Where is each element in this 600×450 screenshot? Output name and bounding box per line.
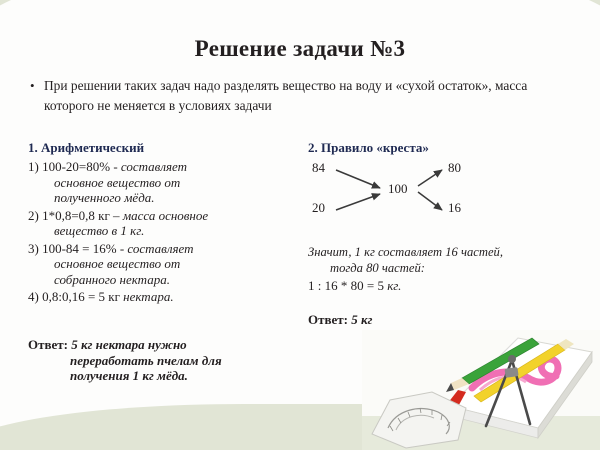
cross-value-bottom-right: 16	[448, 200, 461, 216]
right-answer-value: 5 кг	[351, 312, 372, 327]
left-section-heading: 1. Арифметический	[28, 140, 298, 156]
arrow-20-to-center	[336, 194, 380, 210]
bullet-dot-icon: •	[30, 76, 44, 96]
step-1-lead: 1) 100-20=80% -	[28, 159, 121, 174]
left-answer-cont-2: получения 1 кг мёда.	[28, 368, 298, 384]
step-2-lead-italic: масса основное	[123, 208, 208, 223]
cross-rule-method-column: 2. Правило «креста» 84 20 100 8	[308, 140, 573, 159]
cross-value-bottom-left: 20	[312, 200, 325, 216]
list-item: 1) 100-20=80% - составляет основное веще…	[28, 159, 298, 206]
list-item: 4) 0,8:0,16 = 5 кг нектара.	[28, 289, 298, 305]
compass-clamp	[505, 367, 519, 378]
right-equation: 1 : 16 * 80 = 5 кг.	[308, 278, 566, 294]
conclusion-line-1: Значит, 1 кг составляет 16 частей,	[308, 245, 503, 259]
left-answer-label: Ответ:	[28, 337, 68, 352]
left-answer-block: Ответ: 5 кг нектара нужно переработать п…	[28, 337, 298, 384]
intro-bullet-text: При решении таких задач надо разделять в…	[44, 76, 556, 116]
page-title: Решение задачи №3	[0, 36, 600, 62]
intro-bullet: • При решении таких задач надо разделять…	[30, 76, 556, 116]
right-conclusion-block: Значит, 1 кг составляет 16 частей, тогда…	[308, 245, 566, 328]
left-answer-cont-1: переработать пчелам для	[28, 353, 298, 369]
step-4-lead: 4) 0,8:0,16 = 5 кг	[28, 289, 123, 304]
conclusion-line-2: тогда 80 частей:	[308, 261, 566, 277]
list-item: 2) 1*0,8=0,8 кг – масса основное веществ…	[28, 208, 298, 239]
cross-value-center: 100	[388, 181, 408, 197]
step-2-cont-1: вещество в 1 кг.	[28, 223, 298, 239]
arrow-center-to-16	[418, 192, 442, 210]
stationery-photo	[362, 330, 600, 450]
compass-hinge	[508, 355, 516, 363]
right-equation-unit: кг.	[387, 278, 401, 293]
step-3-cont-2: собранного нектара.	[28, 272, 298, 288]
arrow-84-to-center	[336, 170, 380, 188]
right-equation-lead: 1 : 16 * 80 = 5	[308, 278, 387, 293]
conclusion-text: Значит, 1 кг составляет 16 частей, тогда…	[308, 245, 566, 276]
step-3-lead: 3) 100-84 = 16% -	[28, 241, 127, 256]
arrow-center-to-80	[418, 170, 442, 186]
cross-value-top-right: 80	[448, 160, 461, 176]
step-3-cont-1: основное вещество от	[28, 256, 298, 272]
stationery-illustration	[362, 330, 600, 450]
step-1-cont-1: основное вещество от	[28, 175, 298, 191]
left-answer-text: 5 кг нектара нужно	[71, 337, 186, 352]
step-1-lead-italic: составляет	[121, 159, 187, 174]
step-2-lead: 2) 1*0,8=0,8 кг –	[28, 208, 123, 223]
step-1-cont-2: полученного мёда.	[28, 190, 298, 206]
step-3-lead-italic: составляет	[127, 241, 193, 256]
cross-arrows-svg	[308, 160, 563, 222]
list-item: 3) 100-84 = 16% - составляет основное ве…	[28, 241, 298, 288]
cross-rule-diagram: 84 20 100 80 16	[308, 160, 563, 222]
slide-canvas: Решение задачи №3 • При решении таких за…	[0, 0, 600, 450]
right-answer-block: Ответ: 5 кг	[308, 312, 566, 328]
right-answer-label: Ответ:	[308, 312, 348, 327]
right-section-heading: 2. Правило «креста»	[308, 140, 573, 156]
step-4-lead-italic: нектара.	[123, 289, 173, 304]
cross-value-top-left: 84	[312, 160, 325, 176]
arithmetic-method-column: 1. Арифметический 1) 100-20=80% - состав…	[28, 140, 298, 307]
